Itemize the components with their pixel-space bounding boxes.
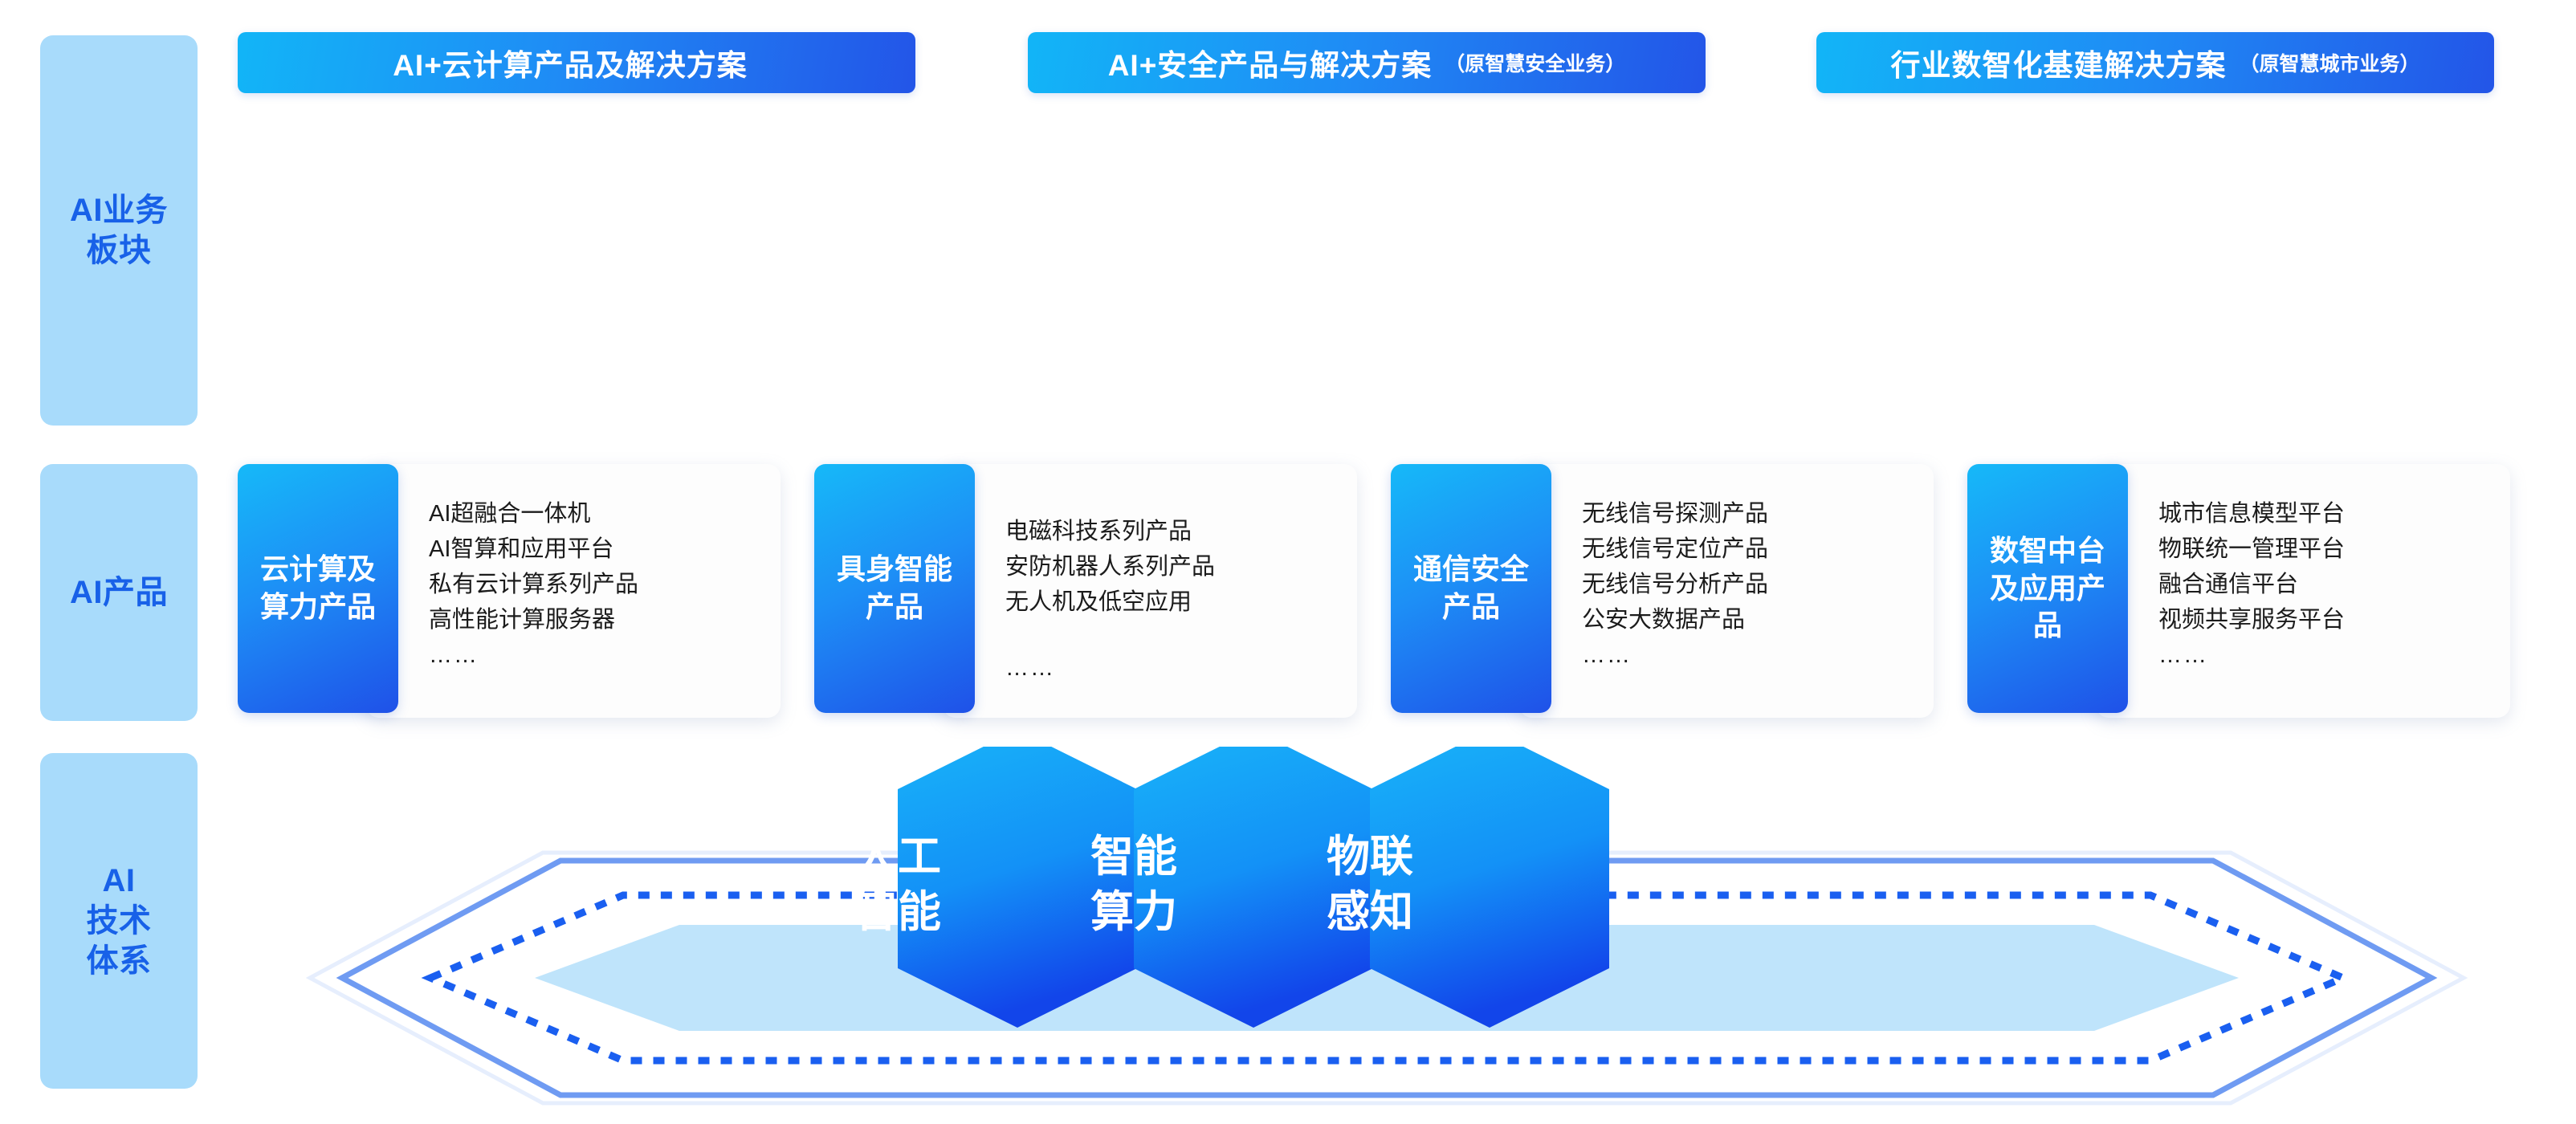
rail-label-text: AI 技术 体系 bbox=[87, 861, 152, 981]
product-group-comm-security: 无线信号探测产品 无线信号定位产品 无线信号分析产品 公安大数据产品 …… 通信… bbox=[1391, 464, 1934, 721]
business-card-subtitle: （原智慧安全业务） bbox=[1445, 48, 1625, 77]
product-group-tab[interactable]: 数智中台及应用产品 bbox=[1967, 464, 2128, 713]
business-card-security: AI+安全产品与解决方案 （原智慧安全业务） 以人工智能、机器人、电磁科技等为代… bbox=[1028, 32, 1706, 334]
business-card-text: 以大模型为代表的AI技术蓬勃发展，云计算和算力基础设施建设正迎来新一波浪潮，我们… bbox=[273, 130, 880, 299]
product-item: AI智算和应用平台 bbox=[429, 531, 781, 567]
business-card-header: AI+云计算产品及解决方案 bbox=[238, 32, 915, 93]
rail-label-text: AI产品 bbox=[70, 572, 168, 613]
product-group-tab[interactable]: 通信安全产品 bbox=[1391, 464, 1551, 713]
business-card-text: 人工智能技术的飞速发展，正在“倒逼”各行业数字化建设的加速，物联、网络、数据是人… bbox=[1852, 130, 2459, 299]
business-card-body: 人工智能技术的飞速发展，正在“倒逼”各行业数字化建设的加速，物联、网络、数据是人… bbox=[1816, 87, 2494, 334]
product-item-card: AI超融合一体机 AI智算和应用平台 私有云计算系列产品 高性能计算服务器 …… bbox=[366, 464, 781, 718]
business-card-header: 行业数智化基建解决方案 （原智慧城市业务） bbox=[1816, 32, 2494, 93]
product-more-ellipsis: …… bbox=[2158, 642, 2510, 669]
product-item: 无人机及低空应用 bbox=[1005, 584, 1357, 620]
product-group-cloud-compute: AI超融合一体机 AI智算和应用平台 私有云计算系列产品 高性能计算服务器 ……… bbox=[238, 464, 781, 721]
hex-pillar-compute[interactable] bbox=[1134, 747, 1373, 1028]
hex-pillar-iot[interactable] bbox=[1370, 747, 1609, 1028]
product-item: 无线信号探测产品 bbox=[1582, 496, 1934, 531]
product-group-tab[interactable]: 具身智能产品 bbox=[814, 464, 975, 713]
business-card-title: AI+云计算产品及解决方案 bbox=[393, 41, 748, 84]
product-item: 城市信息模型平台 bbox=[2158, 496, 2510, 531]
rail-label-ai-tech-system: AI 技术 体系 bbox=[40, 753, 198, 1089]
product-item: 物联统一管理平台 bbox=[2158, 531, 2510, 567]
business-card-title: 行业数智化基建解决方案 bbox=[1890, 41, 2226, 84]
tech-platform-svg bbox=[198, 747, 2576, 1124]
product-group-data-midplatform: 城市信息模型平台 物联统一管理平台 融合通信平台 视频共享服务平台 …… 数智中… bbox=[1967, 464, 2510, 721]
infographic-canvas: AI业务 板块 AI产品 AI 技术 体系 AI+云计算产品及解决方案 以大模型… bbox=[0, 0, 2576, 1124]
rail-label-ai-products: AI产品 bbox=[40, 464, 198, 721]
product-item: 无线信号分析产品 bbox=[1582, 567, 1934, 602]
business-card-header: AI+安全产品与解决方案 （原智慧安全业务） bbox=[1028, 32, 1706, 93]
business-card-text: 以人工智能、机器人、电磁科技等为代表的新质生产力正在加速普及，为新时期的社会治安… bbox=[1063, 130, 1670, 299]
tech-platform-diagram bbox=[198, 747, 2576, 1124]
product-item: 无线信号定位产品 bbox=[1582, 531, 1934, 567]
product-group-tab[interactable]: 云计算及算力产品 bbox=[238, 464, 398, 713]
business-card-body: 以人工智能、机器人、电磁科技等为代表的新质生产力正在加速普及，为新时期的社会治安… bbox=[1028, 87, 1706, 334]
business-card-body: 以大模型为代表的AI技术蓬勃发展，云计算和算力基础设施建设正迎来新一波浪潮，我们… bbox=[238, 87, 915, 334]
business-card-title: AI+安全产品与解决方案 bbox=[1108, 41, 1433, 84]
hex-pillar-ai[interactable] bbox=[898, 747, 1137, 1028]
product-more-ellipsis: …… bbox=[1005, 655, 1357, 682]
product-item: 安防机器人系列产品 bbox=[1005, 549, 1357, 584]
product-item-card: 电磁科技系列产品 安防机器人系列产品 无人机及低空应用 …… bbox=[943, 464, 1357, 718]
business-card-cloud: AI+云计算产品及解决方案 以大模型为代表的AI技术蓬勃发展，云计算和算力基础设… bbox=[238, 32, 915, 334]
product-item: AI超融合一体机 bbox=[429, 496, 781, 531]
product-item: 公安大数据产品 bbox=[1582, 602, 1934, 637]
product-item: 融合通信平台 bbox=[2158, 567, 2510, 602]
product-group-embodied-ai: 电磁科技系列产品 安防机器人系列产品 无人机及低空应用 …… 具身智能产品 bbox=[814, 464, 1357, 721]
rail-label-text: AI业务 板块 bbox=[70, 190, 168, 271]
product-item-card: 无线信号探测产品 无线信号定位产品 无线信号分析产品 公安大数据产品 …… bbox=[1519, 464, 1934, 718]
product-item: 电磁科技系列产品 bbox=[1005, 514, 1357, 549]
rail-label-ai-business: AI业务 板块 bbox=[40, 35, 198, 426]
product-item-card: 城市信息模型平台 物联统一管理平台 融合通信平台 视频共享服务平台 …… bbox=[2096, 464, 2510, 718]
product-item: 私有云计算系列产品 bbox=[429, 567, 781, 602]
product-more-ellipsis: …… bbox=[429, 642, 781, 669]
product-more-ellipsis: …… bbox=[1582, 642, 1934, 669]
business-card-subtitle: （原智慧城市业务） bbox=[2239, 48, 2419, 77]
product-item: 视频共享服务平台 bbox=[2158, 602, 2510, 637]
business-card-digital-infra: 行业数智化基建解决方案 （原智慧城市业务） 人工智能技术的飞速发展，正在“倒逼”… bbox=[1816, 32, 2494, 334]
product-item: 高性能计算服务器 bbox=[429, 602, 781, 637]
